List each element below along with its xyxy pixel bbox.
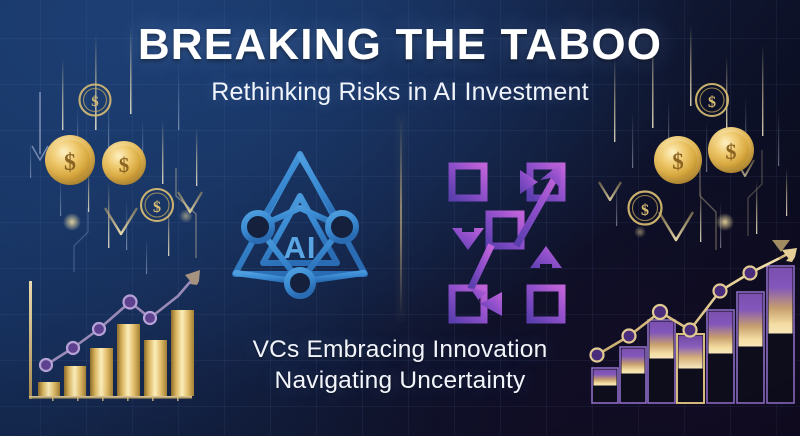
flow-diagram-arrowheads [452,162,562,316]
tagline-line-1: VCs Embracing Innovation [0,334,800,365]
right-down-arrow-icon-3 [736,108,754,176]
svg-text:$: $ [153,199,161,216]
dollar-coin-icon-left-2: $ [45,135,95,185]
left-down-arrow-icon-2 [178,122,202,212]
ai-badge-label: AI [284,230,317,265]
poster-canvas: $ $ $ $ [0,0,800,436]
dollar-coin-icon-right-3: $ [708,127,754,173]
dollar-coin-icon-left-4: $ [141,189,173,221]
right-small-arrow-icon [772,240,790,252]
flow-diagram-arrows-icon [452,166,562,320]
dollar-coin-icon-right-2: $ [654,136,702,184]
page-subtitle: Rethinking Risks in AI Investment [0,78,800,107]
svg-text:$: $ [726,139,737,164]
ai-triangle-network-icon [235,154,365,282]
dollar-coin-icon-left-3: $ [102,141,146,185]
left-down-arrow-icon-1 [105,108,137,234]
flow-diagram-connectors [468,176,556,320]
left-glow-spot [63,213,81,231]
tagline-line-2: Navigating Uncertainty [0,365,800,396]
svg-text:$: $ [641,202,649,219]
right-down-arrow-icon-1 [659,110,693,240]
right-down-arrow-icon-2 [599,118,621,200]
ai-network-nodes [244,213,356,296]
svg-text:$: $ [64,150,76,176]
page-title: BREAKING THE TABOO [0,20,800,70]
tagline-block: VCs Embracing Innovation Navigating Unce… [0,334,800,396]
svg-text:$: $ [672,149,684,174]
center-divider [400,115,402,320]
dollar-coin-icon-right-4: $ [629,192,662,225]
svg-text:$: $ [119,153,130,177]
